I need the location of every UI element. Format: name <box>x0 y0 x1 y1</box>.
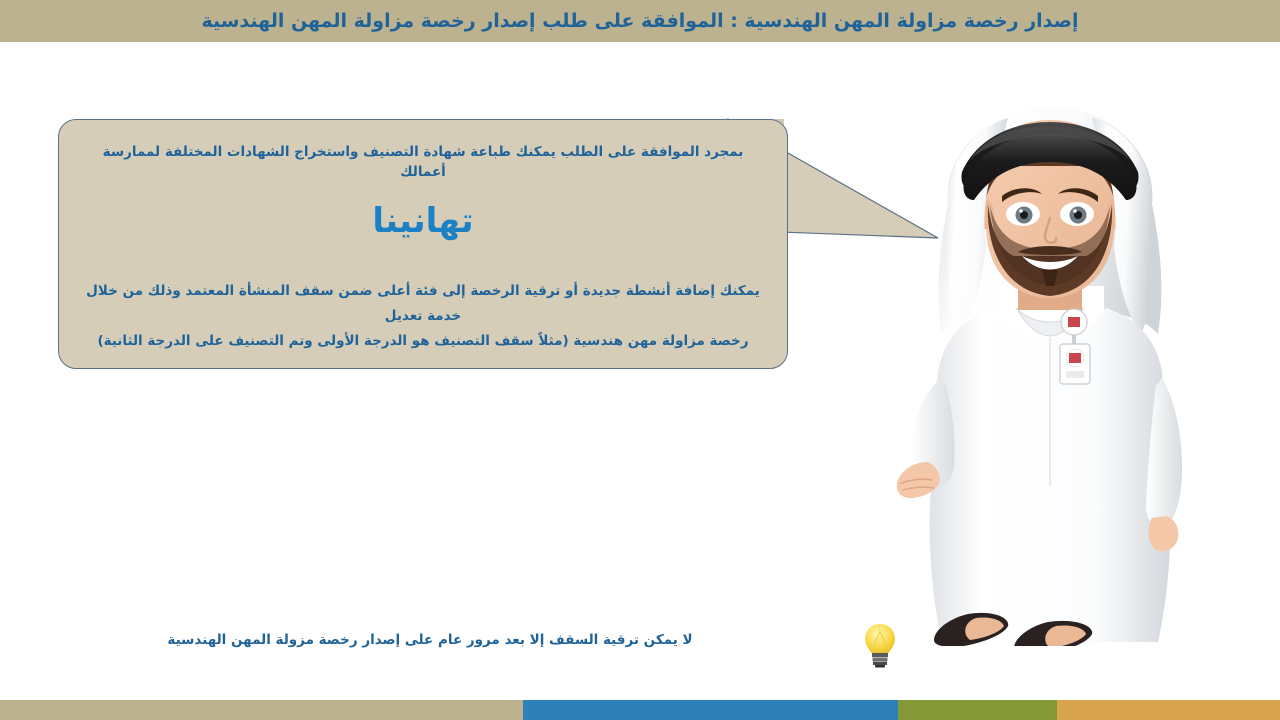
bubble-paragraph: يمكنك إضافة أنشطة جديدة أو ترقية الرخصة … <box>82 279 764 354</box>
footer-bar-segment-green <box>898 700 1057 720</box>
bubble-intro-text: بمجرد الموافقة على الطلب يمكنك طباعة شها… <box>88 142 758 182</box>
footer-note-text: لا يمكن ترقية السقف إلا بعد مرور عام على… <box>0 632 860 648</box>
speech-bubble: بمجرد الموافقة على الطلب يمكنك طباعة شها… <box>58 119 788 369</box>
header-bar: إصدار رخصة مزاولة المهن الهندسية : الموا… <box>0 0 1280 42</box>
slide-root: إصدار رخصة مزاولة المهن الهندسية : الموا… <box>0 0 1280 720</box>
footer-color-bar <box>0 700 1280 720</box>
saudi-man-character-illustration <box>890 86 1210 646</box>
lightbulb-icon <box>862 622 898 668</box>
footer-bar-segment-blue <box>523 700 898 720</box>
footer-bar-segment-orange <box>1057 700 1280 720</box>
footer-bar-segment-tan <box>0 700 523 720</box>
bubble-paragraph-line-1: يمكنك إضافة أنشطة جديدة أو ترقية الرخصة … <box>82 279 764 329</box>
bubble-paragraph-line-2: رخصة مزاولة مهن هندسية (مثلاً سقف التصني… <box>82 329 764 354</box>
congratulations-heading: تهانينا <box>58 201 788 241</box>
page-title: إصدار رخصة مزاولة المهن الهندسية : الموا… <box>201 10 1078 32</box>
